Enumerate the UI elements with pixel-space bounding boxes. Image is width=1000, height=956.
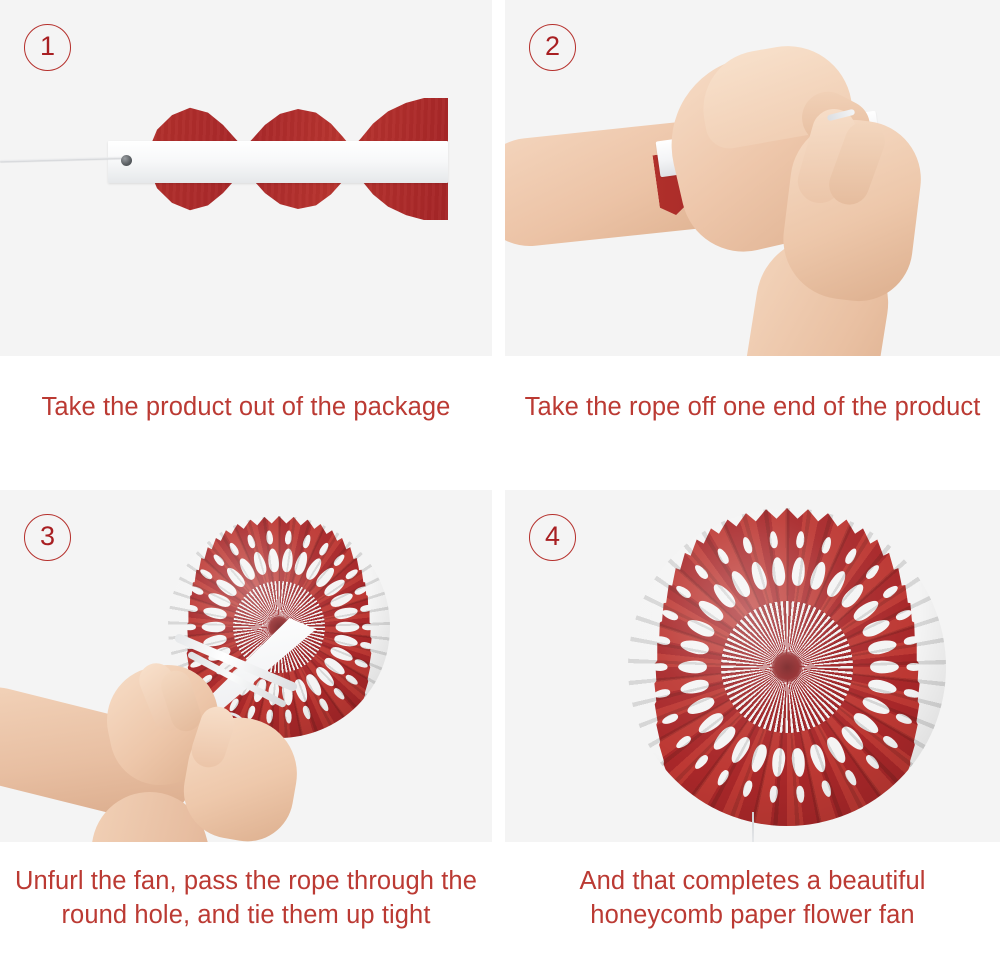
step-number-4: 4 [545, 523, 560, 550]
step-number-1: 1 [40, 33, 55, 60]
metal-eyelet-icon [121, 155, 132, 166]
step-caption-4: And that completes a beautiful honeycomb… [519, 865, 986, 932]
step-caption-3-container: Unfurl the fan, pass the rope through th… [0, 842, 492, 956]
step-panel-1: 1 [0, 0, 492, 356]
folded-product [0, 0, 492, 356]
white-rope [0, 156, 124, 163]
instruction-sheet: 1 2 Take the product [0, 0, 1000, 956]
open-rosette-fan [628, 508, 946, 826]
panel-grid: 1 2 Take the product [0, 0, 1000, 956]
step-caption-4-container: And that completes a beautiful honeycomb… [505, 842, 1000, 956]
step-panel-3: 3 [0, 490, 492, 842]
step-3-image [0, 490, 492, 842]
step-number-3: 3 [40, 523, 55, 550]
step-caption-3: Unfurl the fan, pass the rope through th… [14, 865, 478, 932]
fan-sheen [628, 508, 946, 826]
step-caption-2-container: Take the rope off one end of the product [505, 356, 1000, 460]
step-caption-1-container: Take the product out of the package [0, 356, 492, 460]
step-number-2: 2 [545, 33, 560, 60]
step-badge-1: 1 [24, 24, 71, 71]
step-badge-3: 3 [24, 514, 71, 561]
white-paper-sleeve [108, 141, 448, 183]
step-caption-1: Take the product out of the package [42, 391, 451, 425]
step-4-image [505, 490, 1000, 842]
hanging-thread [752, 812, 754, 842]
step-badge-2: 2 [529, 24, 576, 71]
step-2-image [505, 0, 1000, 356]
step-panel-2: 2 [505, 0, 1000, 356]
step-panel-4: 4 [505, 490, 1000, 842]
step-1-image [0, 0, 492, 356]
step-caption-2: Take the rope off one end of the product [525, 391, 981, 425]
step-badge-4: 4 [529, 514, 576, 561]
